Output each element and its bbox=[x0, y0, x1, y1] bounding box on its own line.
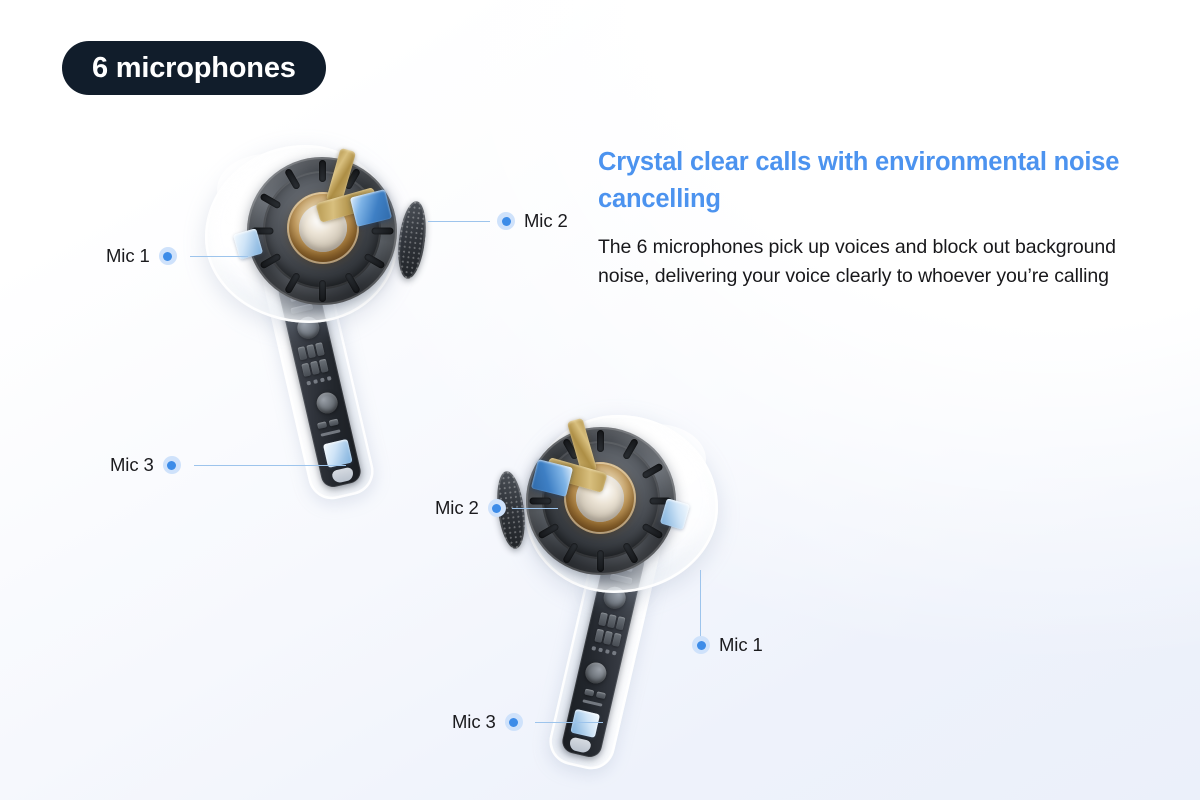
pcb-chip bbox=[298, 346, 308, 360]
callout-marker-dot-icon[interactable] bbox=[159, 247, 177, 265]
callout-left-mic-2[interactable]: Mic 2 bbox=[497, 210, 568, 232]
feature-text-block: Crystal clear calls with environmental n… bbox=[598, 144, 1164, 291]
pcb-chip bbox=[616, 616, 626, 630]
leader-line-right-mic-3 bbox=[535, 722, 603, 723]
earbud-left-mic2-grille bbox=[394, 200, 429, 281]
callout-marker-dot-icon[interactable] bbox=[497, 212, 515, 230]
earbud-right-stem-tip bbox=[568, 737, 591, 754]
pcb-chip bbox=[319, 359, 329, 373]
callout-left-mic-2-label: Mic 2 bbox=[524, 210, 568, 232]
pcb-pad bbox=[320, 429, 340, 436]
leader-line-left-mic-2 bbox=[428, 221, 490, 222]
pcb-chip bbox=[317, 421, 327, 429]
callout-left-mic-3[interactable]: Mic 3 bbox=[110, 454, 181, 476]
pcb-pad bbox=[327, 376, 332, 381]
pcb-chip bbox=[315, 342, 325, 356]
leader-line-right-mic-2 bbox=[512, 508, 558, 509]
promo-graphic: 6 microphones Crystal clear calls with e… bbox=[0, 0, 1200, 800]
callout-left-mic-1-label: Mic 1 bbox=[106, 245, 150, 267]
badge-label: 6 microphones bbox=[92, 52, 296, 85]
earbud-right bbox=[518, 415, 718, 765]
pcb-capacitor bbox=[315, 390, 340, 415]
pcb-chip bbox=[584, 689, 594, 697]
callout-right-mic-1-label: Mic 1 bbox=[719, 634, 763, 656]
callout-marker-dot-icon[interactable] bbox=[163, 456, 181, 474]
pcb-chip bbox=[596, 691, 606, 699]
pcb-pad bbox=[313, 379, 318, 384]
callout-marker-dot-icon[interactable] bbox=[488, 499, 506, 517]
leader-line-left-mic-1 bbox=[190, 256, 248, 257]
pcb-pad bbox=[320, 378, 325, 383]
callout-right-mic-2-label: Mic 2 bbox=[435, 497, 479, 519]
feature-headline: Crystal clear calls with environmental n… bbox=[598, 144, 1164, 217]
pcb-pad bbox=[598, 648, 603, 653]
callout-left-mic-1[interactable]: Mic 1 bbox=[106, 245, 177, 267]
callout-right-mic-3-label: Mic 3 bbox=[452, 711, 496, 733]
leader-line-right-mic-1-vertical bbox=[700, 570, 701, 644]
pcb-pad bbox=[582, 699, 602, 706]
earbud-left bbox=[205, 145, 405, 495]
pcb-capacitor bbox=[583, 660, 608, 685]
pcb-pad bbox=[612, 651, 617, 656]
leader-line-left-mic-3 bbox=[194, 465, 346, 466]
pcb-chip bbox=[310, 361, 320, 375]
callout-marker-dot-icon[interactable] bbox=[692, 636, 710, 654]
pcb-chip bbox=[306, 344, 316, 358]
callout-right-mic-3[interactable]: Mic 3 bbox=[452, 711, 523, 733]
pcb-pad bbox=[591, 646, 596, 651]
microphone-count-badge: 6 microphones bbox=[62, 41, 326, 95]
earbud-left-stem-tip bbox=[331, 467, 354, 484]
callout-right-mic-2[interactable]: Mic 2 bbox=[435, 497, 506, 519]
callout-right-mic-1[interactable]: Mic 1 bbox=[692, 634, 763, 656]
pcb-pad bbox=[605, 649, 610, 654]
pcb-chip bbox=[612, 633, 622, 647]
earbud-right-mic3-module bbox=[570, 709, 600, 738]
feature-body-text: The 6 microphones pick up voices and blo… bbox=[598, 233, 1164, 291]
callout-left-mic-3-label: Mic 3 bbox=[110, 454, 154, 476]
pcb-pad bbox=[306, 381, 311, 386]
pcb-chip bbox=[329, 419, 339, 427]
earbud-left-mic3-module bbox=[323, 439, 353, 468]
pcb-chip bbox=[301, 363, 311, 377]
callout-marker-dot-icon[interactable] bbox=[505, 713, 523, 731]
